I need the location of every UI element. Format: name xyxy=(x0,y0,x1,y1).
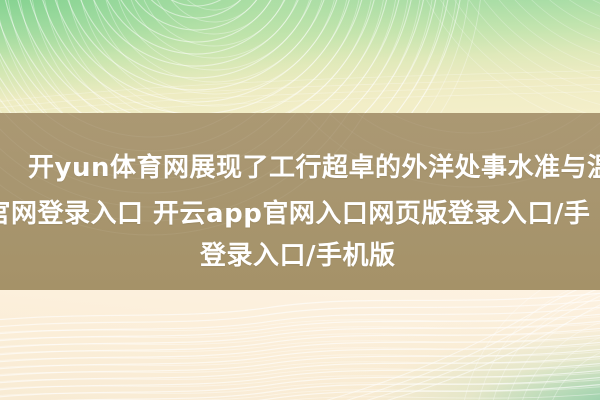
top-arc-pattern xyxy=(0,0,600,113)
headline-block: 开yun体育网展现了工行超卓的外洋处事水准与温 云官网登录入口 开云app官网入… xyxy=(0,113,600,290)
banner-canvas: 开yun体育网展现了工行超卓的外洋处事水准与温 云官网登录入口 开云app官网入… xyxy=(0,0,600,400)
top-gradient-band xyxy=(0,0,600,113)
bottom-gradient-band xyxy=(0,290,600,400)
headline-line-1: 开yun体育网展现了工行超卓的外洋处事水准与温 xyxy=(28,155,600,181)
headline-line-2: 云官网登录入口 开云app官网入口网页版登录入口/手 xyxy=(0,201,590,227)
bottom-wave-pattern xyxy=(0,290,600,400)
headline-line-3: 登录入口/手机版 xyxy=(200,243,396,269)
